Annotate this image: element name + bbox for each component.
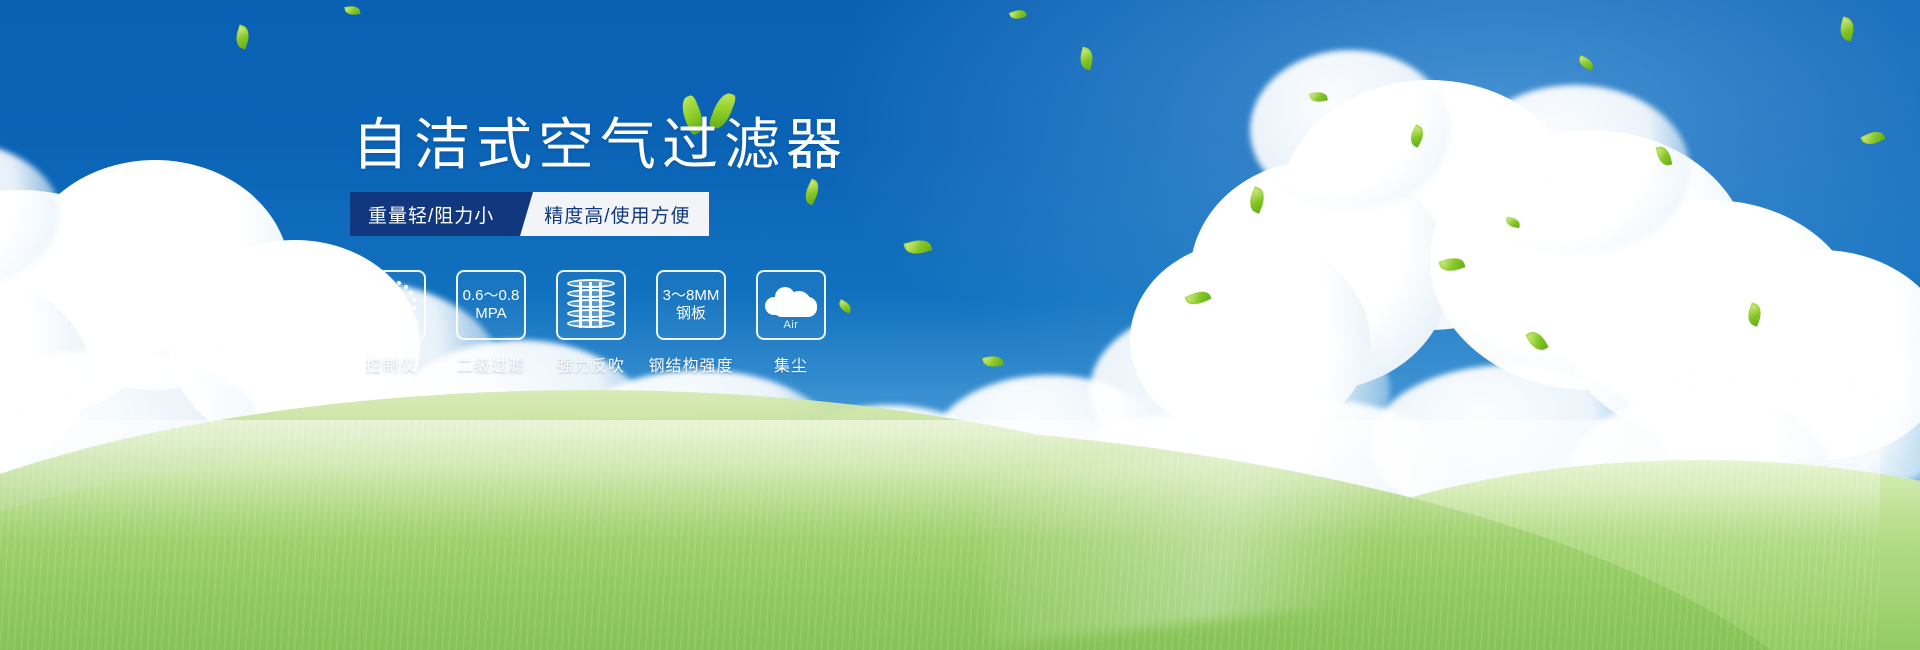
feature-icon-text-bottom: MPA <box>463 305 520 323</box>
hero-banner: 自洁式空气过滤器 重量轻/阻力小 精度高/使用方便 <box>0 0 1920 650</box>
gauge-icon: NO OFF <box>360 274 422 336</box>
feature-item: 3～8MM 钢板 钢结构强度 <box>656 270 726 376</box>
feature-icon-box <box>556 270 626 340</box>
feature-icon-text-bottom: 钢板 <box>663 305 720 323</box>
pressure-text-icon: 0.6～0.8 MPA <box>463 287 520 323</box>
air-label: Air <box>763 319 819 331</box>
feature-icon-box: 3～8MM 钢板 <box>656 270 726 340</box>
filter-cartridge-icon <box>567 279 615 331</box>
subtitle-tab-primary: 重量轻/阻力小 <box>350 192 520 236</box>
page-title: 自洁式空气过滤器 <box>352 114 848 176</box>
subtitle-tab-secondary: 精度高/使用方便 <box>518 192 708 236</box>
feature-icon-text-top: 3～8MM <box>663 287 720 305</box>
feature-item: Air 集尘 <box>756 270 826 376</box>
steel-plate-text-icon: 3～8MM 钢板 <box>663 287 720 323</box>
feature-label: 集尘 <box>774 352 808 376</box>
feature-list: NO OFF 控制仪 0.6～0.8 MPA 二级过滤 <box>356 270 826 376</box>
subtitle-tab-secondary-label: 精度高/使用方便 <box>544 201 690 228</box>
feature-icon-text-top: 0.6～0.8 <box>463 287 520 305</box>
subtitle-tabs: 重量轻/阻力小 精度高/使用方便 <box>350 192 709 236</box>
feature-label: 控制仪 <box>365 352 416 376</box>
gauge-needle-icon <box>385 286 397 328</box>
subtitle-tab-primary-label: 重量轻/阻力小 <box>368 201 494 228</box>
gauge-off-label: OFF <box>405 321 421 328</box>
feature-icon-box: Air <box>756 270 826 340</box>
feature-label: 钢结构强度 <box>649 352 734 376</box>
feature-icon-box: NO OFF <box>356 270 426 340</box>
air-cloud-icon: Air <box>763 281 819 329</box>
feature-icon-box: 0.6～0.8 MPA <box>456 270 526 340</box>
feature-item: 0.6～0.8 MPA 二级过滤 <box>456 270 526 376</box>
banner-content: 自洁式空气过滤器 重量轻/阻力小 精度高/使用方便 <box>0 0 1920 650</box>
feature-item: 强力反吹 <box>556 270 626 376</box>
feature-label: 强力反吹 <box>557 352 625 376</box>
feature-label: 二级过滤 <box>457 352 525 376</box>
gauge-no-label: NO <box>361 301 373 308</box>
feature-item: NO OFF 控制仪 <box>356 270 426 376</box>
